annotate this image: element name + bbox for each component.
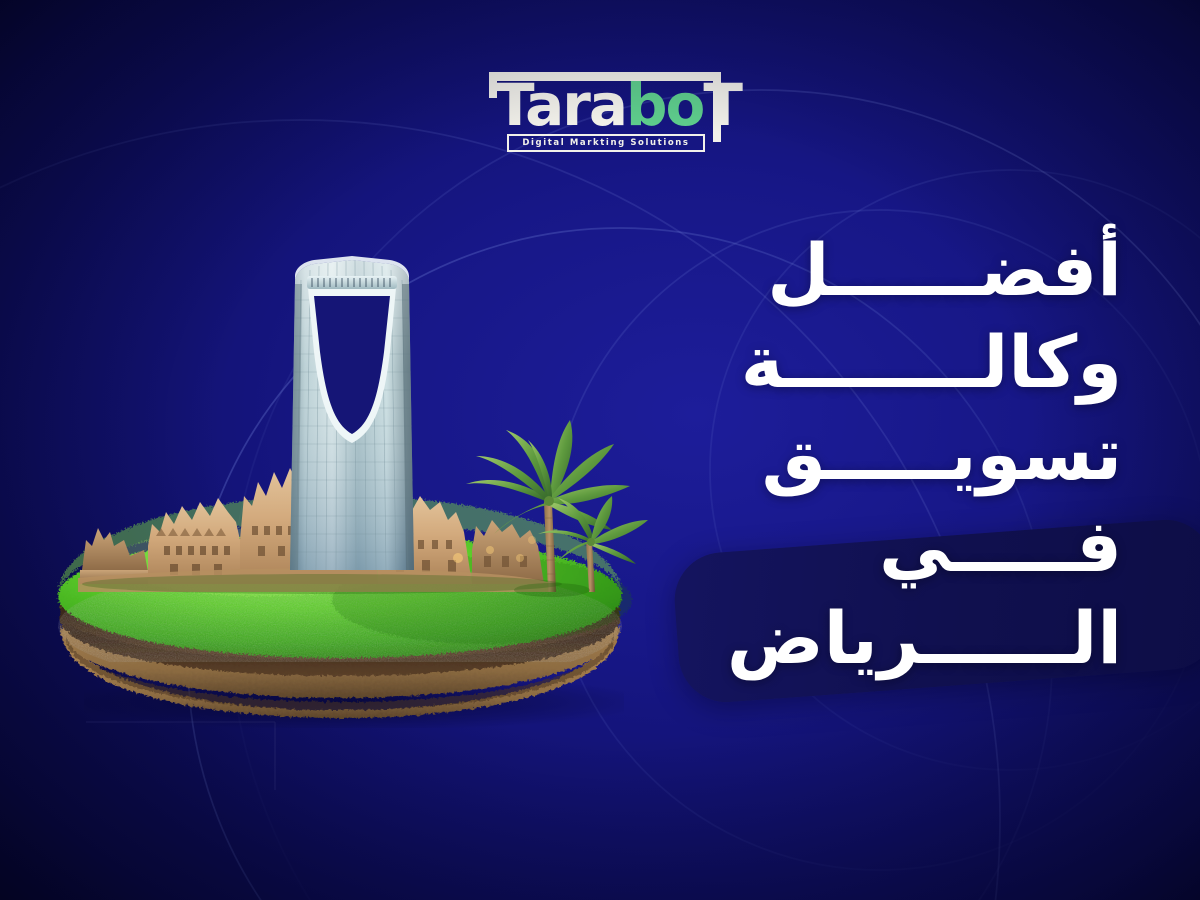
logo-text-suffix: T [703, 76, 741, 134]
logo-text-accent: bo [626, 76, 703, 134]
logo-wordmark: TaraboT [495, 74, 715, 136]
headline-line-1: أفضــــــل [602, 234, 1122, 306]
logo-tagline-box: Digital Markting Solutions [507, 134, 705, 152]
logo-tagline: Digital Markting Solutions [522, 138, 689, 148]
poster-canvas: TaraboT Digital Markting Solutions أفضــ… [0, 0, 1200, 900]
logo-text-primary: Tara [495, 76, 626, 134]
headline-line-4: فـــــي [602, 510, 1122, 582]
headline-block: أفضــــــل وكالــــــــة تسويـــــق فـــ… [602, 234, 1122, 674]
brand-logo[interactable]: TaraboT Digital Markting Solutions [489, 72, 721, 156]
kingdom-centre-tower [290, 256, 414, 570]
headline-line-3: تسويـــــق [602, 418, 1122, 490]
headline-line-2: وكالــــــــة [602, 326, 1122, 398]
riyadh-island-illustration [52, 240, 652, 700]
headline-line-5: الــــــرياض [602, 602, 1122, 674]
corner-frame-rect [86, 722, 275, 790]
